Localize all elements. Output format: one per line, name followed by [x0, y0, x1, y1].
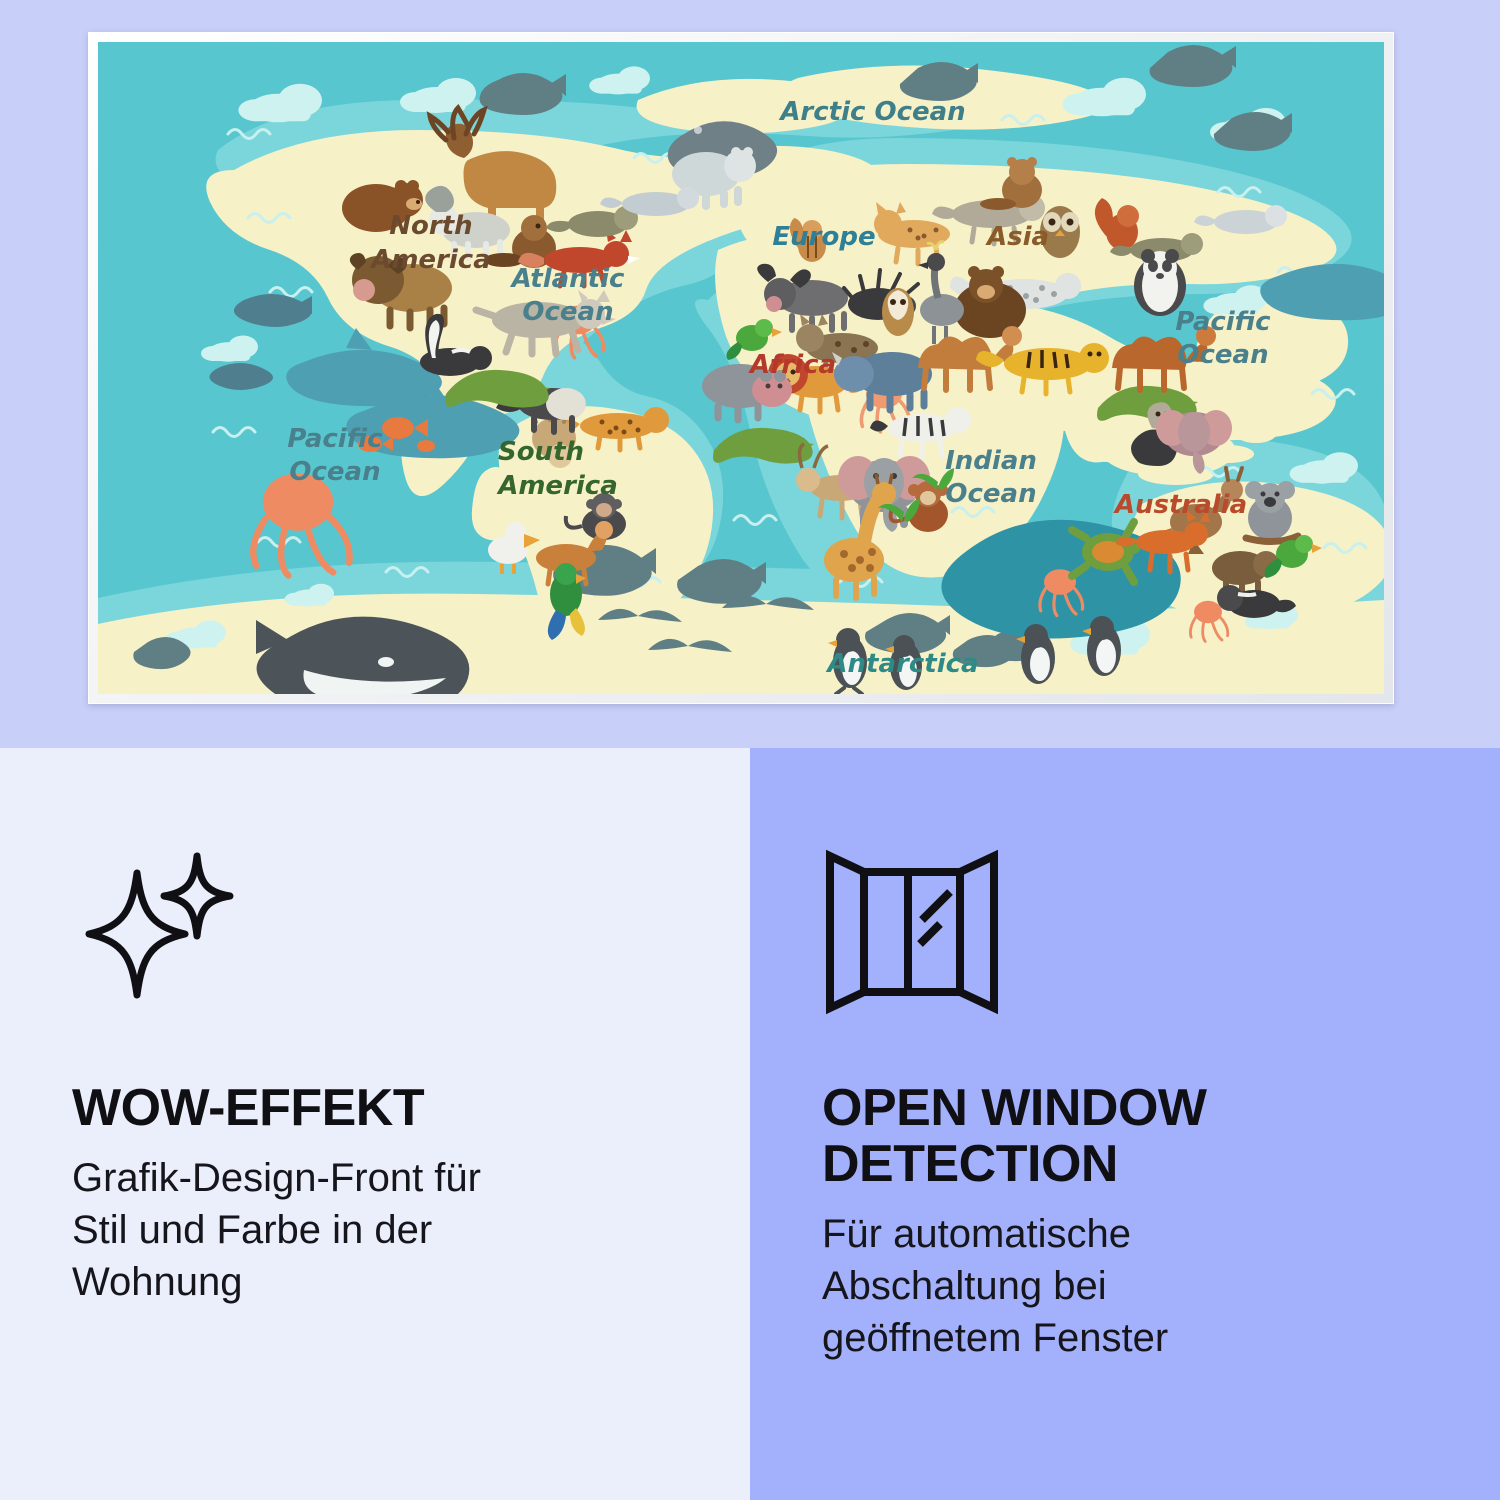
map-label-antarctica: Antarctica — [825, 649, 978, 679]
map-label-pacific-ocean-east-l2: Ocean — [1177, 340, 1268, 370]
map-label-north-america-l1: North — [389, 211, 472, 241]
map-label-south-america-l2: America — [496, 471, 618, 501]
map-label-indian-ocean-l1: Indian — [945, 446, 1037, 476]
map-label-pacific-ocean-east-l1: Pacific — [1175, 307, 1271, 337]
open-window-icon — [822, 848, 1428, 1018]
map-label-pacific-ocean-west-l2: Ocean — [289, 457, 380, 487]
feature-description-wow-effekt: Grafik-Design-Front für Stil und Farbe i… — [72, 1152, 542, 1308]
sparkles-icon — [72, 848, 678, 1018]
map-label-north-america-l2: America — [369, 245, 491, 275]
map-label-indian-ocean-l2: Ocean — [945, 479, 1036, 509]
map-label-asia: Asia — [985, 222, 1049, 252]
map-label-south-america-l1: South — [498, 437, 584, 467]
map-label-arctic-ocean: Arctic Ocean — [778, 97, 965, 127]
map-label-australia: Australia — [1113, 490, 1247, 520]
map-label-africa: Africa — [748, 350, 836, 380]
feature-panel-wow-effekt: WOW-EFFEKT Grafik-Design-Front für Stil … — [0, 748, 750, 1500]
map-label-atlantic-ocean-l1: Atlantic — [510, 264, 625, 294]
map-label-europe: Europe — [772, 222, 875, 252]
poster-frame: Arctic Ocean Atlantic Ocean Pacific Ocea… — [88, 32, 1394, 704]
feature-description-open-window-detection: Für automatische Abschaltung bei geöffne… — [822, 1208, 1292, 1364]
hero-section: Arctic Ocean Atlantic Ocean Pacific Ocea… — [0, 0, 1500, 748]
feature-panel-open-window-detection: OPEN WINDOW DETECTION Für automatische A… — [750, 748, 1500, 1500]
feature-title-wow-effekt: WOW-EFFEKT — [72, 1080, 592, 1136]
feature-panels: WOW-EFFEKT Grafik-Design-Front für Stil … — [0, 748, 1500, 1500]
world-map-artwork: Arctic Ocean Atlantic Ocean Pacific Ocea… — [98, 42, 1384, 694]
feature-title-open-window-detection: OPEN WINDOW DETECTION — [822, 1080, 1322, 1192]
map-label-atlantic-ocean-l2: Ocean — [522, 297, 613, 327]
map-label-pacific-ocean-west-l1: Pacific — [287, 424, 383, 454]
